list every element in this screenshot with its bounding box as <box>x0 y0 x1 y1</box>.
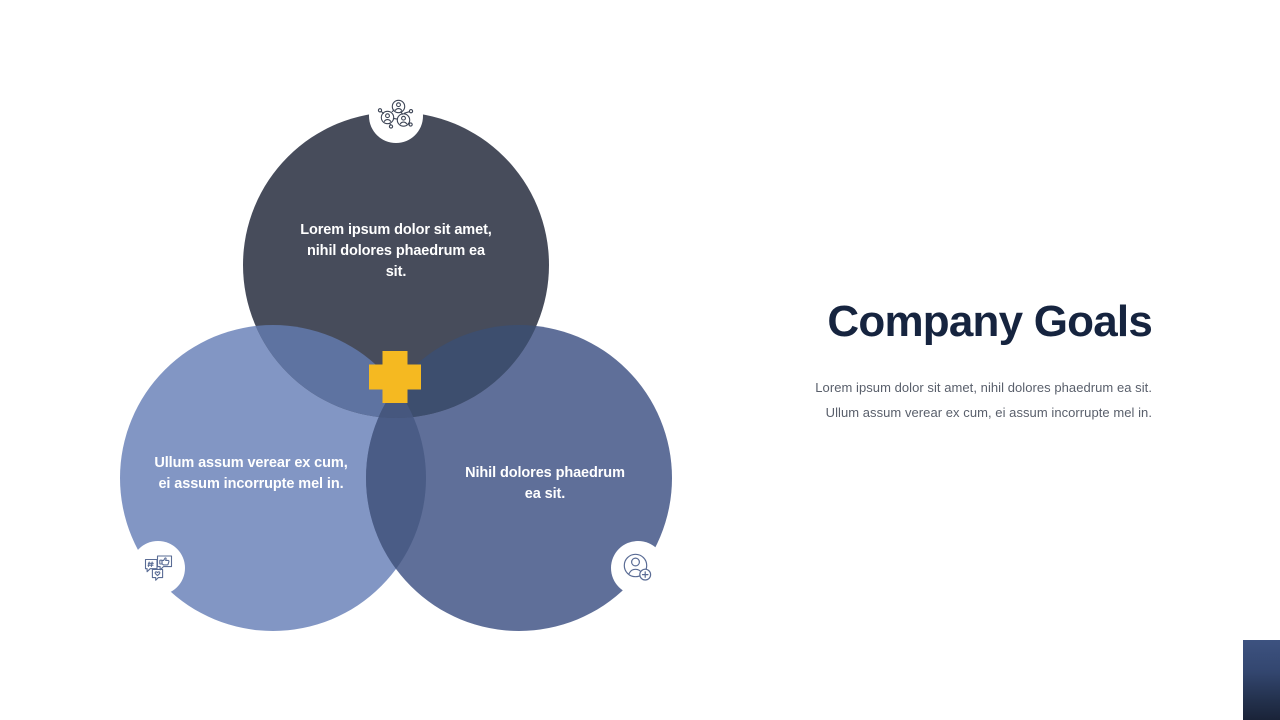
venn-svg <box>0 0 720 720</box>
venn-badge-top[interactable] <box>370 90 422 142</box>
body-line-2: Ullum assum verear ex cum, ei assum inco… <box>752 400 1152 425</box>
body-line-1: Lorem ipsum dolor sit amet, nihil dolore… <box>752 375 1152 400</box>
content-panel: Company Goals Lorem ipsum dolor sit amet… <box>720 0 1280 720</box>
slide-canvas: Lorem ipsum dolor sit amet, nihil dolore… <box>0 0 1280 720</box>
page-title: Company Goals <box>827 297 1152 347</box>
venn-badge-left[interactable] <box>132 542 184 594</box>
body-paragraph: Lorem ipsum dolor sit amet, nihil dolore… <box>752 375 1152 426</box>
venn-badge-right[interactable] <box>612 542 664 594</box>
corner-accent-decoration <box>1243 640 1280 720</box>
venn-diagram: Lorem ipsum dolor sit amet, nihil dolore… <box>0 0 720 720</box>
